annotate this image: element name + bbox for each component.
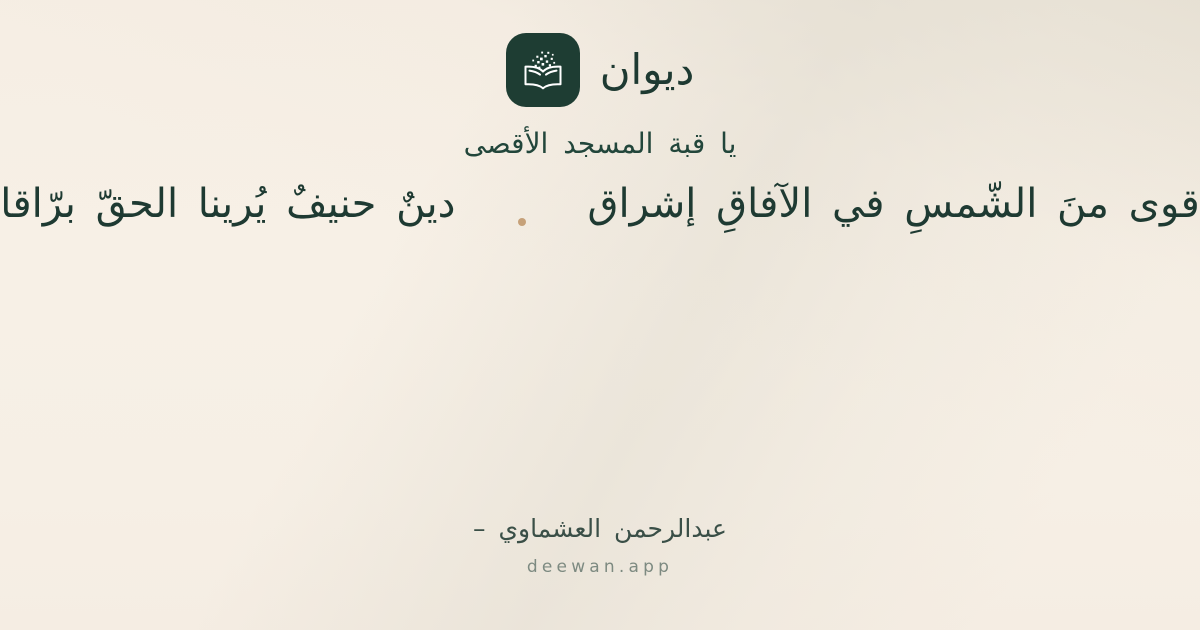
poem-verse: قوى منَ الشّمسِ في الآفاقِ إشراق دينٌ حن… xyxy=(0,172,1200,236)
site-url: deewan.app xyxy=(0,556,1200,578)
verse-first-hemistich: قوى منَ الشّمسِ في الآفاقِ إشراق xyxy=(588,175,1200,233)
verse-separator-dot xyxy=(518,218,526,226)
open-book-sparkles-icon xyxy=(506,33,580,107)
verse-second-hemistich: دينٌ حنيفٌ يُرينا الحقّ برّاقا xyxy=(0,175,455,233)
poem-share-card: ديوان يا قبة المسجد الأقصى قوى منَ الشّم… xyxy=(0,0,1200,630)
brand-header: ديوان xyxy=(506,33,695,107)
poem-title: يا قبة المسجد الأقصى xyxy=(464,126,737,162)
brand-name: ديوان xyxy=(600,49,695,91)
card-footer: عبدالرحمن العشماوي – deewan.app xyxy=(0,512,1200,578)
poet-attribution: عبدالرحمن العشماوي – xyxy=(0,512,1200,546)
